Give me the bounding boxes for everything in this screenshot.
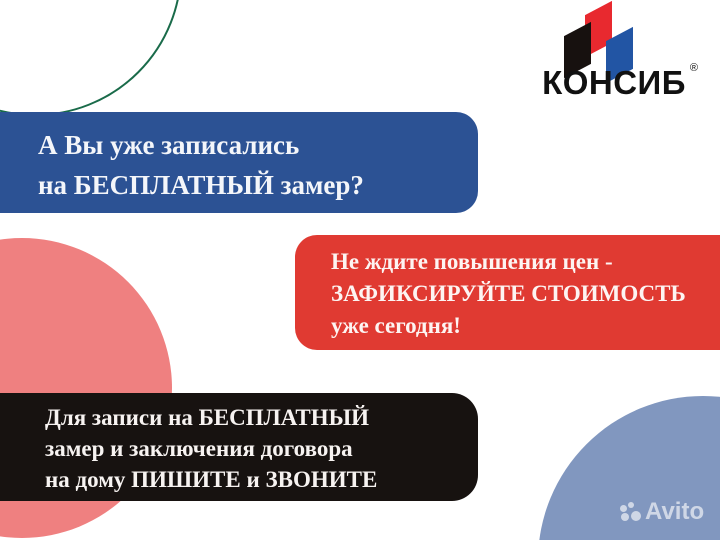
headline-banner-blue: А Вы уже записались на БЕСПЛАТНЫЙ замер? <box>0 112 478 213</box>
cta-banner-black: Для записи на БЕСПЛАТНЫЙ замер и заключе… <box>0 393 478 501</box>
banner-black-line-3: на дому ПИШИТЕ и ЗВОНИТЕ <box>45 464 478 495</box>
avito-watermark-label: Avito <box>645 500 704 524</box>
promo-poster: КОНСИБ ® А Вы уже записались на БЕСПЛАТН… <box>0 0 720 540</box>
banner-red-line-2: ЗАФИКСИРУЙТЕ СТОИМОСТЬ <box>331 278 720 310</box>
banner-black-line-2: замер и заключения договора <box>45 433 478 464</box>
offer-banner-red: Не ждите повышения цен - ЗАФИКСИРУЙТЕ СТ… <box>295 235 720 350</box>
company-logo: КОНСИБ ® <box>512 8 702 106</box>
green-ring-decoration <box>0 0 182 116</box>
banner-blue-line-2: на БЕСПЛАТНЫЙ замер? <box>38 165 478 205</box>
avito-dots-icon <box>620 502 640 522</box>
banner-red-line-1: Не ждите повышения цен - <box>331 246 720 278</box>
logo-mark-icon <box>560 8 636 70</box>
banner-red-line-3: уже сегодня! <box>331 310 720 342</box>
logo-wordmark: КОНСИБ <box>542 66 686 99</box>
avito-watermark: Avito <box>620 500 704 524</box>
registered-trademark-icon: ® <box>690 62 698 74</box>
banner-blue-line-1: А Вы уже записались <box>38 125 478 165</box>
banner-black-line-1: Для записи на БЕСПЛАТНЫЙ <box>45 402 478 433</box>
